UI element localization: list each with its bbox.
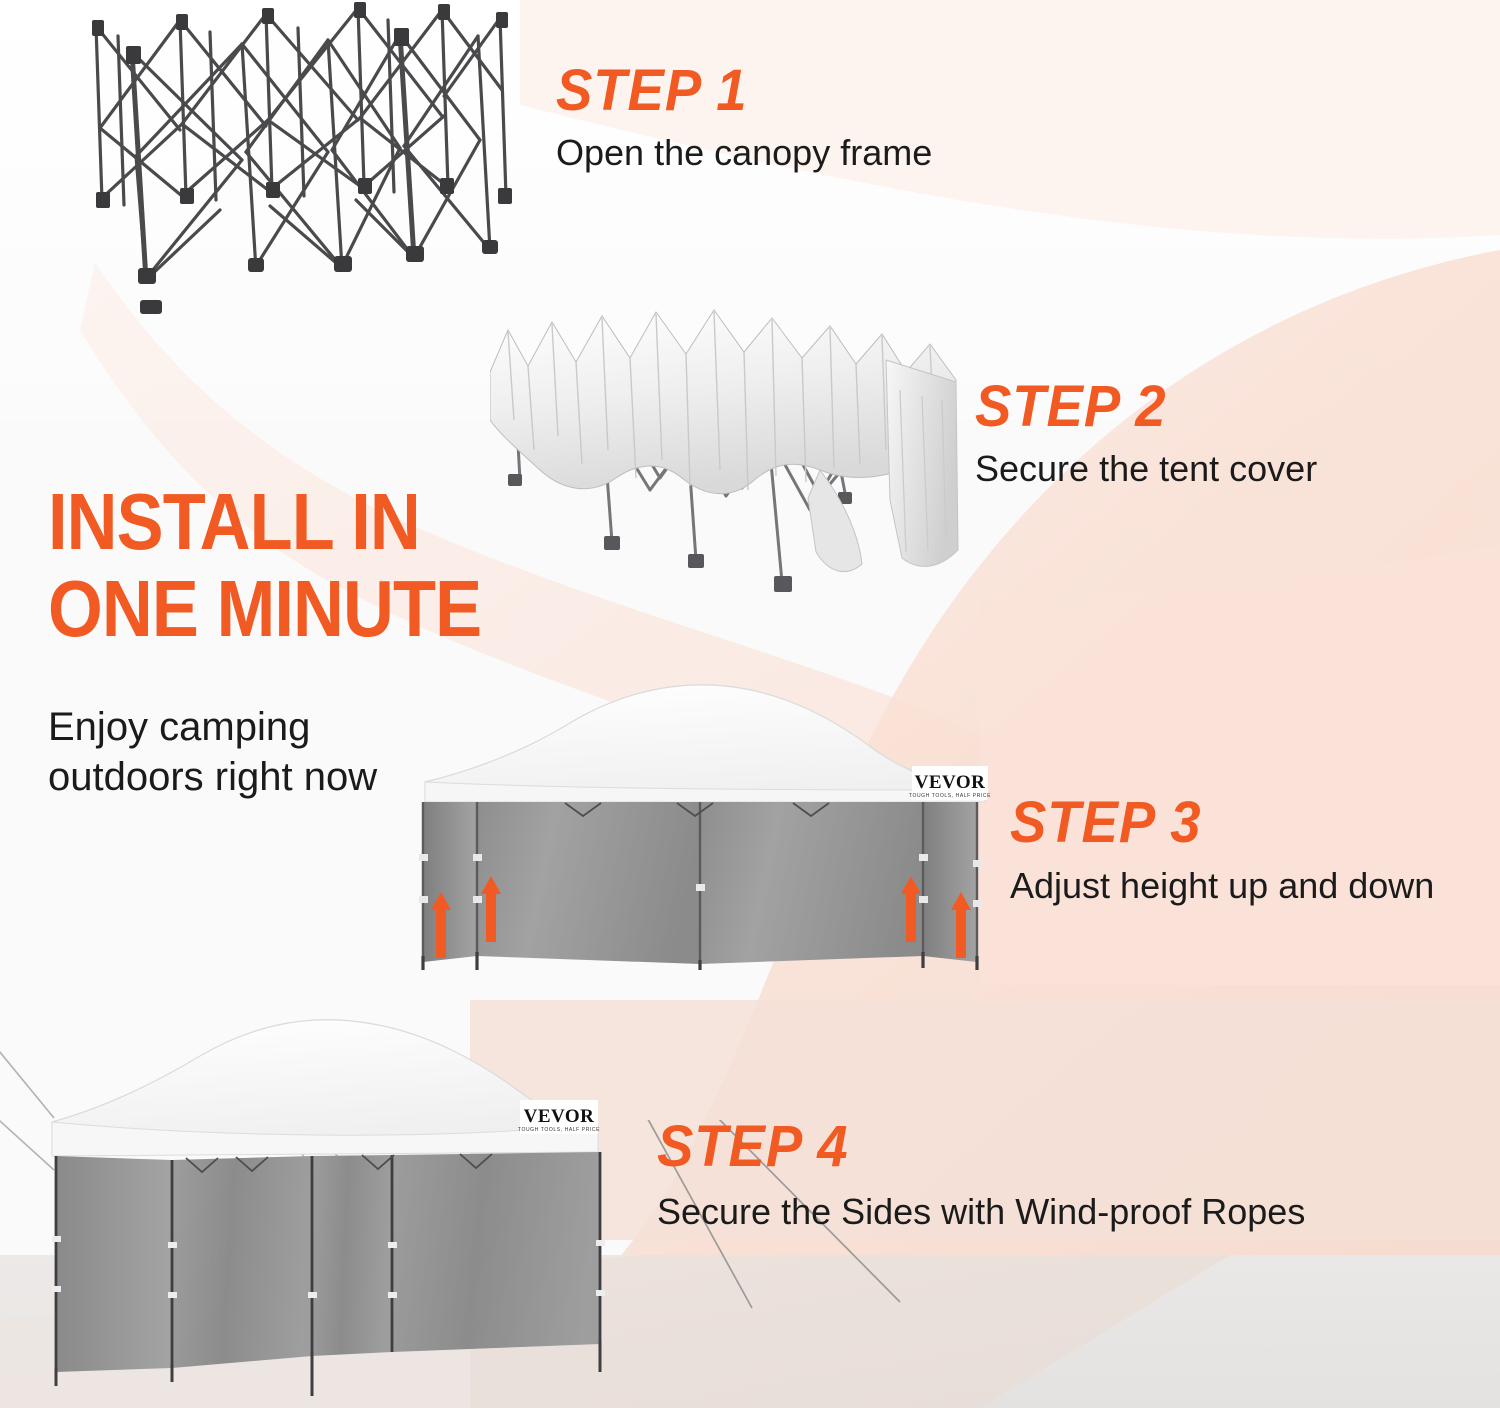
subheadline-line-2: outdoors right now [48, 752, 377, 802]
step-4-label: STEP 4 [657, 1118, 848, 1176]
svg-text:VEVOR: VEVOR [524, 1106, 595, 1127]
svg-text:TOUGH TOOLS, HALF PRICE: TOUGH TOOLS, HALF PRICE [909, 793, 991, 799]
svg-text:VEVOR: VEVOR [915, 772, 986, 793]
headline-line-1: INSTALL IN [48, 483, 420, 561]
infographic-canvas: STEP 1 Open the canopy frame [0, 0, 1500, 1408]
step-3-illustration: VEVOR TOUGH TOOLS, HALF PRICE [415, 670, 1000, 970]
step-3-label: STEP 3 [1010, 794, 1201, 852]
step-2-label: STEP 2 [975, 378, 1166, 436]
headline-line-2: ONE MINUTE [48, 570, 481, 648]
step-2-illustration [490, 300, 960, 640]
step-1-illustration [70, 0, 550, 345]
svg-text:TOUGH TOOLS, HALF PRICE: TOUGH TOOLS, HALF PRICE [518, 1127, 600, 1133]
step-2-description: Secure the tent cover [975, 449, 1317, 489]
logo-step3: VEVOR TOUGH TOOLS, HALF PRICE [909, 766, 991, 800]
step-4-description: Secure the Sides with Wind-proof Ropes [657, 1192, 1305, 1232]
subheadline-line-1: Enjoy camping [48, 702, 310, 752]
step-4-illustration: VEVOR TOUGH TOOLS, HALF PRICE [0, 1000, 660, 1408]
step-1-label: STEP 1 [556, 62, 747, 120]
logo-step4: VEVOR TOUGH TOOLS, HALF PRICE [518, 1100, 600, 1134]
step-3-description: Adjust height up and down [1010, 866, 1434, 906]
step-1-description: Open the canopy frame [556, 133, 932, 173]
